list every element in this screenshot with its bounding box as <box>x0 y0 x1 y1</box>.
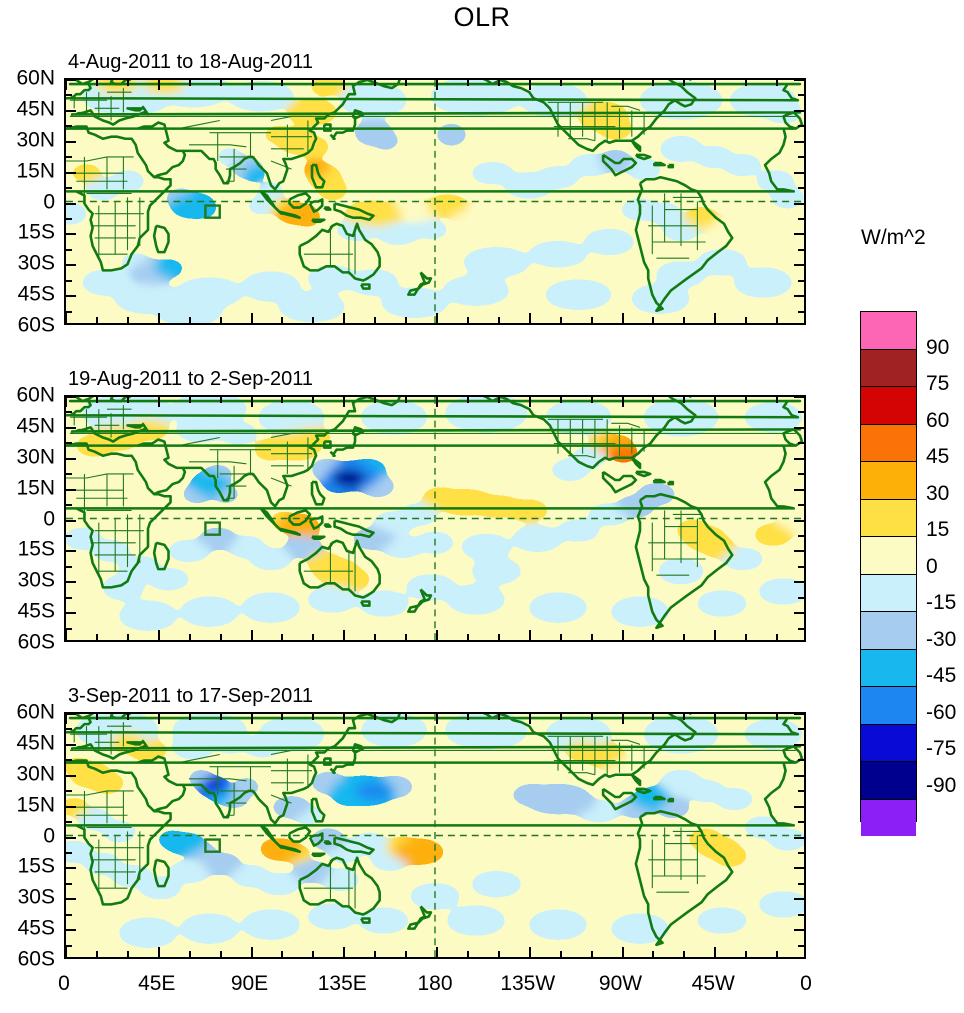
x-tick-minor <box>591 79 593 86</box>
x-tick-minor <box>220 634 222 641</box>
x-tick <box>65 79 67 90</box>
y-tick-minor <box>65 280 72 282</box>
y-tick-minor <box>65 759 72 761</box>
x-tick-minor <box>498 713 500 720</box>
x-tick-minor <box>745 396 747 403</box>
x-tick-minor <box>745 79 747 86</box>
panel-2-title: 19-Aug-2011 to 2-Sep-2011 <box>68 368 313 391</box>
x-tick-minor <box>96 396 98 403</box>
y-axis-label-30N: 30N <box>16 129 55 150</box>
colorbar-tick-0: 0 <box>926 555 938 579</box>
x-tick-minor <box>683 317 685 324</box>
x-tick <box>343 313 345 324</box>
colorbar-tick-labels: 9075604530150-15-30-45-60-75-90 <box>860 311 964 822</box>
y-tick-minor <box>65 821 72 823</box>
x-axis-label-0: 0 <box>800 972 812 996</box>
y-tick <box>794 295 805 297</box>
x-tick-minor <box>189 317 191 324</box>
x-tick <box>251 396 253 407</box>
x-tick <box>65 713 67 724</box>
y-axis-label-15N: 15N <box>16 794 55 815</box>
x-tick-minor <box>312 634 314 641</box>
x-tick-minor <box>776 317 778 324</box>
y-tick-minor <box>798 883 805 885</box>
x-tick <box>714 396 716 407</box>
y-axis-label-45N: 45N <box>16 732 55 753</box>
x-tick <box>343 947 345 958</box>
y-tick-minor <box>798 156 805 158</box>
y-axis-label-45N: 45N <box>16 415 55 436</box>
y-tick <box>65 775 76 777</box>
x-tick-minor <box>560 396 562 403</box>
y-axis-label-45S: 45S <box>18 601 55 622</box>
y-tick-minor <box>65 504 72 506</box>
x-tick <box>436 947 438 958</box>
y-tick-minor <box>798 597 805 599</box>
x-tick-minor <box>498 396 500 403</box>
x-tick-minor <box>776 396 778 403</box>
x-tick-minor <box>776 713 778 720</box>
map-panel-2: 19-Aug-2011 to 2-Sep-2011 60N45N30N15N01… <box>64 395 806 642</box>
y-tick <box>65 489 76 491</box>
x-tick-minor <box>374 713 376 720</box>
x-tick-minor <box>189 634 191 641</box>
x-tick-minor <box>127 713 129 720</box>
x-tick-minor <box>405 713 407 720</box>
x-tick-minor <box>374 951 376 958</box>
x-tick <box>158 313 160 324</box>
x-tick <box>714 79 716 90</box>
x-tick-minor <box>220 79 222 86</box>
x-tick-minor <box>312 713 314 720</box>
x-tick-minor <box>281 317 283 324</box>
x-tick-minor <box>652 79 654 86</box>
y-tick-minor <box>65 852 72 854</box>
x-tick-minor <box>776 951 778 958</box>
x-tick <box>436 79 438 90</box>
x-tick-minor <box>591 951 593 958</box>
y-tick <box>794 79 805 81</box>
colorbar-tick-30: 30 <box>926 482 949 506</box>
y-tick <box>794 489 805 491</box>
y-tick <box>65 929 76 931</box>
y-tick <box>794 806 805 808</box>
x-tick <box>158 630 160 641</box>
colorbar-tick--75: -75 <box>926 737 956 761</box>
x-tick-minor <box>683 634 685 641</box>
y-tick <box>65 458 76 460</box>
y-tick-minor <box>798 945 805 947</box>
x-tick <box>65 313 67 324</box>
y-tick <box>65 581 76 583</box>
y-tick <box>65 141 76 143</box>
x-tick-minor <box>560 713 562 720</box>
y-axis-label-60S: 60S <box>18 949 55 970</box>
y-tick <box>65 233 76 235</box>
x-tick-minor <box>374 317 376 324</box>
y-tick <box>794 612 805 614</box>
x-tick-minor <box>189 396 191 403</box>
panel-1-field <box>66 80 804 323</box>
x-tick <box>529 630 531 641</box>
x-tick <box>529 713 531 724</box>
x-tick-minor <box>467 317 469 324</box>
y-tick <box>794 837 805 839</box>
y-tick-minor <box>798 914 805 916</box>
x-tick-minor <box>281 396 283 403</box>
x-tick-minor <box>189 951 191 958</box>
colorbar-tick--90: -90 <box>926 774 956 798</box>
x-tick <box>529 396 531 407</box>
x-tick-minor <box>220 951 222 958</box>
y-tick-minor <box>798 566 805 568</box>
y-tick <box>65 806 76 808</box>
y-tick-minor <box>65 125 72 127</box>
panel-2-plot[interactable] <box>64 395 806 642</box>
x-tick <box>622 947 624 958</box>
x-tick <box>343 396 345 407</box>
y-tick-minor <box>65 156 72 158</box>
colorbar-tick--15: -15 <box>926 591 956 615</box>
y-axis-label-45S: 45S <box>18 284 55 305</box>
y-tick-minor <box>798 759 805 761</box>
x-tick <box>622 396 624 407</box>
x-axis-label-90W: 90W <box>599 972 642 996</box>
y-tick <box>794 713 805 715</box>
y-tick-minor <box>65 411 72 413</box>
y-tick-minor <box>798 442 805 444</box>
y-tick-minor <box>65 187 72 189</box>
x-tick-minor <box>745 317 747 324</box>
x-tick <box>343 713 345 724</box>
y-tick <box>65 550 76 552</box>
y-tick-minor <box>65 442 72 444</box>
y-tick-minor <box>798 187 805 189</box>
y-axis-label-45N: 45N <box>16 98 55 119</box>
y-tick <box>794 233 805 235</box>
x-axis-label-180: 180 <box>417 972 452 996</box>
x-tick <box>65 396 67 407</box>
x-tick <box>622 79 624 90</box>
x-tick-minor <box>281 951 283 958</box>
y-tick-minor <box>798 218 805 220</box>
x-tick-minor <box>652 317 654 324</box>
y-axis-label-0: 0 <box>43 825 55 846</box>
y-tick <box>65 744 76 746</box>
x-tick-minor <box>467 951 469 958</box>
x-tick <box>529 313 531 324</box>
y-tick <box>65 203 76 205</box>
x-tick-minor <box>127 79 129 86</box>
y-tick-minor <box>798 249 805 251</box>
y-tick-minor <box>798 821 805 823</box>
x-tick-minor <box>220 396 222 403</box>
y-tick <box>794 581 805 583</box>
figure-root: OLR 4-Aug-2011 to 18-Aug-2011 60N45N30N1… <box>0 0 964 1013</box>
x-tick <box>251 947 253 958</box>
y-axis-label-30S: 30S <box>18 887 55 908</box>
y-axis-label-45S: 45S <box>18 918 55 939</box>
x-tick <box>251 79 253 90</box>
x-tick-minor <box>652 951 654 958</box>
panel-1-title: 4-Aug-2011 to 18-Aug-2011 <box>68 51 313 74</box>
x-axis-label-0: 0 <box>58 972 70 996</box>
y-axis-label-30S: 30S <box>18 570 55 591</box>
x-tick <box>251 313 253 324</box>
colorbar-tick-15: 15 <box>926 518 949 542</box>
y-tick <box>794 867 805 869</box>
x-tick-minor <box>498 634 500 641</box>
y-tick-minor <box>65 597 72 599</box>
x-tick-minor <box>560 951 562 958</box>
y-tick-minor <box>65 790 72 792</box>
y-tick <box>794 427 805 429</box>
x-tick-minor <box>560 317 562 324</box>
x-tick <box>436 396 438 407</box>
map-panel-1: 4-Aug-2011 to 18-Aug-2011 60N45N30N15N01… <box>64 78 806 325</box>
x-tick-minor <box>405 634 407 641</box>
y-axis-label-15S: 15S <box>18 222 55 243</box>
x-tick-minor <box>312 951 314 958</box>
x-tick <box>343 630 345 641</box>
y-tick <box>794 550 805 552</box>
x-tick-minor <box>467 634 469 641</box>
x-tick-minor <box>652 396 654 403</box>
x-tick-minor <box>498 951 500 958</box>
x-tick-minor <box>220 713 222 720</box>
x-tick-minor <box>560 634 562 641</box>
x-tick-minor <box>467 713 469 720</box>
y-tick <box>65 172 76 174</box>
x-tick-minor <box>652 713 654 720</box>
x-tick-minor <box>405 79 407 86</box>
x-tick <box>714 313 716 324</box>
x-tick-minor <box>220 317 222 324</box>
y-axis-label-60N: 60N <box>16 702 55 723</box>
map-panel-3: 3-Sep-2011 to 17-Sep-2011 60N45N30N15N01… <box>64 712 806 959</box>
x-axis-label-90E: 90E <box>231 972 268 996</box>
x-tick-minor <box>498 317 500 324</box>
x-tick-minor <box>127 317 129 324</box>
x-tick-minor <box>405 396 407 403</box>
y-tick <box>794 264 805 266</box>
y-tick <box>65 898 76 900</box>
x-tick-minor <box>189 713 191 720</box>
x-tick-minor <box>374 79 376 86</box>
y-tick <box>794 775 805 777</box>
x-tick-minor <box>281 634 283 641</box>
x-tick-minor <box>467 79 469 86</box>
y-tick <box>65 837 76 839</box>
y-tick <box>65 612 76 614</box>
y-axis-label-60S: 60S <box>18 315 55 336</box>
x-tick-minor <box>591 396 593 403</box>
y-tick <box>65 520 76 522</box>
y-axis-label-15N: 15N <box>16 477 55 498</box>
x-tick-minor <box>96 79 98 86</box>
x-tick <box>251 713 253 724</box>
y-tick-minor <box>65 914 72 916</box>
y-tick <box>794 520 805 522</box>
panel-3-plot[interactable] <box>64 712 806 959</box>
y-axis-label-60S: 60S <box>18 632 55 653</box>
x-tick-minor <box>405 317 407 324</box>
colorbar-unit-label: W/m^2 <box>861 226 964 250</box>
y-tick-minor <box>798 504 805 506</box>
x-tick <box>65 947 67 958</box>
x-tick <box>714 713 716 724</box>
y-tick-minor <box>798 473 805 475</box>
y-axis-label-15N: 15N <box>16 160 55 181</box>
x-axis-label-135E: 135E <box>318 972 367 996</box>
colorbar-tick--45: -45 <box>926 664 956 688</box>
x-tick-minor <box>127 951 129 958</box>
y-axis-label-0: 0 <box>43 191 55 212</box>
y-tick-minor <box>65 728 72 730</box>
y-tick <box>794 744 805 746</box>
x-tick-minor <box>745 951 747 958</box>
y-tick <box>794 458 805 460</box>
x-tick <box>714 630 716 641</box>
x-tick-minor <box>96 317 98 324</box>
colorbar-tick-45: 45 <box>926 445 949 469</box>
panel-1-plot[interactable] <box>64 78 806 325</box>
y-tick-minor <box>798 280 805 282</box>
x-tick-minor <box>776 634 778 641</box>
x-tick-minor <box>312 396 314 403</box>
y-axis-label-60N: 60N <box>16 385 55 406</box>
y-tick <box>794 396 805 398</box>
y-tick-minor <box>65 535 72 537</box>
y-tick <box>794 141 805 143</box>
x-tick-minor <box>745 713 747 720</box>
y-tick-minor <box>798 311 805 313</box>
colorbar-tick-90: 90 <box>926 336 949 360</box>
y-axis-label-15S: 15S <box>18 856 55 877</box>
y-tick <box>65 295 76 297</box>
x-tick-minor <box>591 713 593 720</box>
y-tick <box>65 264 76 266</box>
x-tick <box>158 79 160 90</box>
x-tick-minor <box>591 634 593 641</box>
x-tick-minor <box>127 634 129 641</box>
x-tick-minor <box>683 79 685 86</box>
y-axis-label-60N: 60N <box>16 68 55 89</box>
y-axis-label-30N: 30N <box>16 763 55 784</box>
y-axis-label-30N: 30N <box>16 446 55 467</box>
x-tick-minor <box>405 951 407 958</box>
x-tick <box>622 630 624 641</box>
x-axis-label-135W: 135W <box>500 972 555 996</box>
y-tick-minor <box>65 473 72 475</box>
x-tick-minor <box>683 396 685 403</box>
x-tick-minor <box>281 79 283 86</box>
figure-title: OLR <box>0 2 964 33</box>
x-tick-minor <box>96 634 98 641</box>
y-tick-minor <box>65 94 72 96</box>
x-tick <box>529 79 531 90</box>
x-tick-minor <box>498 79 500 86</box>
x-tick-minor <box>652 634 654 641</box>
colorbar-tick--60: -60 <box>926 701 956 725</box>
x-tick <box>436 713 438 724</box>
x-tick-minor <box>683 713 685 720</box>
x-tick-minor <box>776 79 778 86</box>
x-tick <box>714 947 716 958</box>
y-tick <box>65 110 76 112</box>
x-axis-label-45W: 45W <box>692 972 735 996</box>
y-tick <box>65 427 76 429</box>
x-tick-minor <box>467 396 469 403</box>
y-tick-minor <box>65 566 72 568</box>
y-tick-minor <box>798 852 805 854</box>
x-tick-minor <box>560 79 562 86</box>
x-tick <box>529 947 531 958</box>
x-tick-minor <box>312 317 314 324</box>
x-tick-minor <box>374 396 376 403</box>
y-tick <box>794 110 805 112</box>
y-tick-minor <box>798 94 805 96</box>
colorbar-tick-60: 60 <box>926 409 949 433</box>
x-tick-minor <box>591 317 593 324</box>
panel-3-field <box>66 714 804 957</box>
x-tick <box>343 79 345 90</box>
x-tick-minor <box>374 634 376 641</box>
y-tick-minor <box>798 411 805 413</box>
y-tick-minor <box>65 883 72 885</box>
y-axis-label-30S: 30S <box>18 253 55 274</box>
x-tick <box>158 713 160 724</box>
y-tick <box>65 867 76 869</box>
panel-3-title: 3-Sep-2011 to 17-Sep-2011 <box>68 685 313 708</box>
x-axis-label-45E: 45E <box>138 972 175 996</box>
y-tick-minor <box>65 218 72 220</box>
x-tick-minor <box>312 79 314 86</box>
y-tick-minor <box>798 728 805 730</box>
y-tick <box>794 203 805 205</box>
colorbar-tick--30: -30 <box>926 628 956 652</box>
y-tick-minor <box>798 125 805 127</box>
y-tick-minor <box>798 790 805 792</box>
x-tick <box>158 396 160 407</box>
x-tick <box>251 630 253 641</box>
x-tick-minor <box>127 396 129 403</box>
x-tick-minor <box>683 951 685 958</box>
y-tick-minor <box>798 628 805 630</box>
colorbar-tick-75: 75 <box>926 372 949 396</box>
x-tick-minor <box>96 951 98 958</box>
x-tick <box>622 313 624 324</box>
x-tick <box>622 713 624 724</box>
y-tick-minor <box>798 535 805 537</box>
y-axis-label-15S: 15S <box>18 539 55 560</box>
y-tick <box>794 898 805 900</box>
panel-2-field <box>66 397 804 640</box>
x-tick-minor <box>281 713 283 720</box>
x-tick <box>65 630 67 641</box>
x-tick <box>436 313 438 324</box>
x-tick-minor <box>96 713 98 720</box>
x-tick-minor <box>189 79 191 86</box>
y-tick <box>794 172 805 174</box>
y-tick-minor <box>65 249 72 251</box>
y-tick <box>794 929 805 931</box>
x-tick-minor <box>745 634 747 641</box>
x-tick <box>158 947 160 958</box>
x-tick <box>436 630 438 641</box>
y-axis-label-0: 0 <box>43 508 55 529</box>
